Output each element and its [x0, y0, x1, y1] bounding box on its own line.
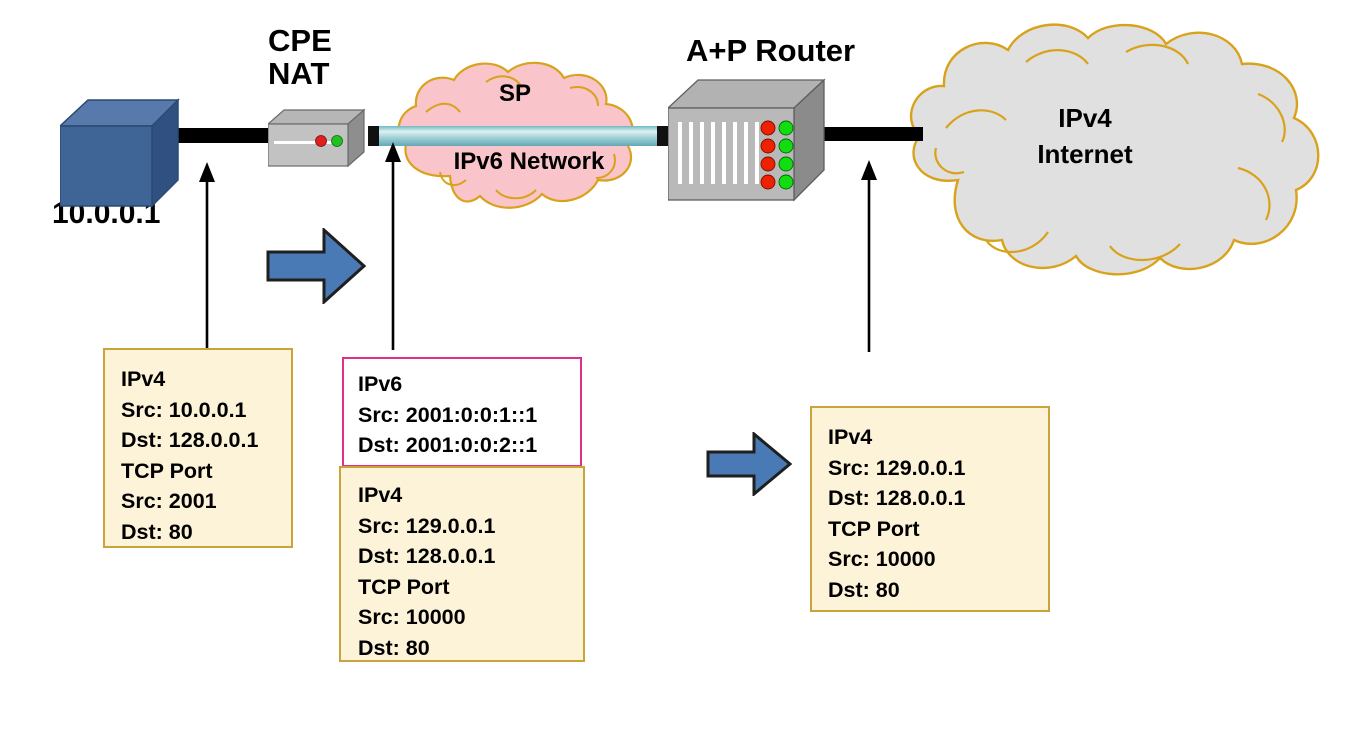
cpe-nat-device	[268, 108, 368, 170]
cpe-nat-label: CPENAT	[268, 24, 332, 91]
nat-label-line2: NAT	[268, 56, 329, 91]
packet-line: IPv6	[358, 369, 580, 400]
packet-middle-ipv4-payload: IPv4 Src: 129.0.0.1 Dst: 128.0.0.1 TCP P…	[339, 466, 585, 662]
ipv6-network-cloud-label: IPv6 Network	[404, 148, 654, 176]
sp-cloud-label: SP	[440, 80, 590, 108]
packet-line: Dst: 2001:0:0:2::1	[358, 430, 580, 461]
diagram-canvas: SP IPv6 Network IPv4Internet 10.0.0.1 CP…	[0, 0, 1352, 740]
packet-line: IPv4	[358, 480, 583, 511]
packet-line: Src: 2001:0:0:1::1	[358, 400, 580, 431]
packet-line: IPv4	[121, 364, 291, 395]
cable-host-to-cpe	[175, 128, 271, 143]
packet-line: IPv4	[828, 422, 1048, 453]
packet-line: Src: 10.0.0.1	[121, 395, 291, 426]
packet-middle-ipv6-header: IPv6 Src: 2001:0:0:1::1 Dst: 2001:0:0:2:…	[342, 357, 582, 467]
packet-line: Src: 129.0.0.1	[358, 511, 583, 542]
packet-line: Dst: 128.0.0.1	[121, 425, 291, 456]
packet-line: Dst: 80	[828, 575, 1048, 606]
packet-line: TCP Port	[358, 572, 583, 603]
packet-line: Dst: 80	[358, 633, 583, 664]
packet-right-ipv4: IPv4 Src: 129.0.0.1 Dst: 128.0.0.1 TCP P…	[810, 406, 1050, 612]
ipv4-internet-cloud-label: IPv4Internet	[975, 100, 1195, 173]
apr-router-label: A+P Router	[686, 34, 855, 67]
packet-line: TCP Port	[828, 514, 1048, 545]
packet-line: Dst: 128.0.0.1	[358, 541, 583, 572]
packet-line: Src: 10000	[358, 602, 583, 633]
callout-arrow-internet-packet	[854, 158, 884, 352]
packet-line: TCP Port	[121, 456, 291, 487]
packet-line: Src: 10000	[828, 544, 1048, 575]
packet-line: Src: 129.0.0.1	[828, 453, 1048, 484]
ipv4-internet-line2: Internet	[1037, 139, 1132, 169]
apr-router-device	[668, 78, 828, 206]
packet-left-ipv4: IPv4 Src: 10.0.0.1 Dst: 128.0.0.1 TCP Po…	[103, 348, 293, 548]
ipv6-pipe	[368, 124, 668, 148]
cpe-label-line1: CPE	[268, 23, 332, 58]
packet-line: Dst: 128.0.0.1	[828, 483, 1048, 514]
callout-arrow-host-packet	[192, 160, 222, 350]
ipv4-internet-line1: IPv4	[1058, 103, 1112, 133]
flow-arrow-cpe	[266, 228, 366, 304]
callout-arrow-ipv6-packet	[378, 140, 408, 350]
cable-router-to-internet	[823, 127, 923, 141]
packet-line: Src: 2001	[121, 486, 291, 517]
packet-line: Dst: 80	[121, 517, 291, 548]
host-computer-cube	[60, 98, 180, 208]
flow-arrow-internet	[706, 432, 792, 496]
